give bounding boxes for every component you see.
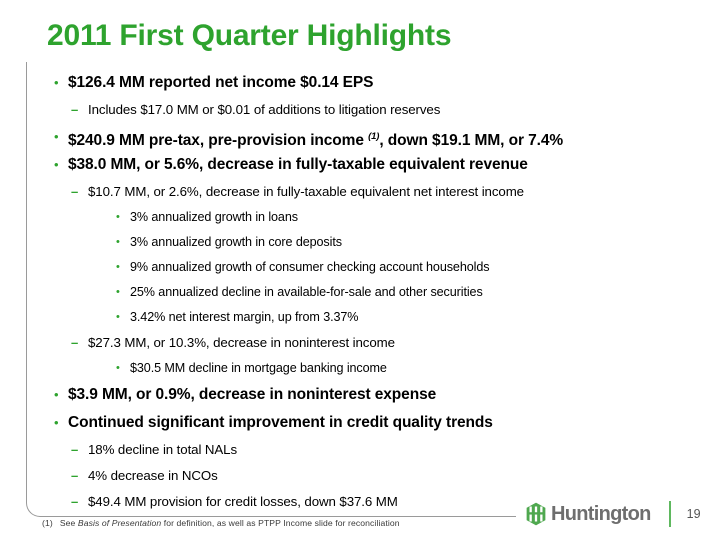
bullet-text: $3.9 MM, or 0.9%, decrease in noninteres… [68, 384, 436, 405]
bullet-marker-icon: • [116, 208, 130, 226]
bullet-item-level-3: •3% annualized growth in core deposits [0, 233, 720, 258]
bullet-marker-icon: • [116, 233, 130, 251]
slide-canvas: 2011 First Quarter Highlights •$126.4 MM… [0, 0, 720, 540]
page-title: 2011 First Quarter Highlights [47, 19, 451, 53]
bullet-marker-icon: – [71, 182, 88, 201]
bullet-item-level-1: •$126.4 MM reported net income $0.14 EPS [0, 72, 720, 100]
bullet-text: 9% annualized growth of consumer checkin… [130, 258, 489, 276]
bullet-text: Continued significant improvement in cre… [68, 412, 493, 433]
bullet-item-level-1: •$240.9 MM pre-tax, pre-provision income… [0, 126, 720, 154]
bullet-text: Includes $17.0 MM or $0.01 of additions … [88, 100, 440, 119]
bullet-text: $27.3 MM, or 10.3%, decrease in noninter… [88, 333, 395, 352]
huntington-hexagon-icon [525, 502, 547, 526]
bullet-text: 4% decrease in NCOs [88, 466, 218, 485]
bullet-marker-icon: • [54, 154, 68, 175]
bullet-text: 18% decline in total NALs [88, 440, 237, 459]
bullet-item-level-2: –4% decrease in NCOs [0, 466, 720, 492]
brand-footer: Huntington 19 [525, 500, 701, 528]
brand-separator [669, 501, 671, 527]
bullet-marker-icon: • [116, 308, 130, 326]
bullet-item-level-3: •$30.5 MM decline in mortgage banking in… [0, 359, 720, 384]
bullet-marker-icon: • [54, 126, 68, 147]
page-number: 19 [687, 502, 701, 526]
bullet-text-part1: $240.9 MM pre-tax, pre-provision income [68, 132, 368, 149]
bullet-text: $49.4 MM provision for credit losses, do… [88, 492, 398, 511]
bullet-item-level-3: •3.42% net interest margin, up from 3.37… [0, 308, 720, 333]
bullet-item-level-2: –18% decline in total NALs [0, 440, 720, 466]
bullet-item-level-2: –$10.7 MM, or 2.6%, decrease in fully-ta… [0, 182, 720, 208]
bullet-item-level-2: –$27.3 MM, or 10.3%, decrease in noninte… [0, 333, 720, 359]
footnote-marker: (1) [42, 518, 53, 528]
footnote-reference: (1) [368, 131, 379, 142]
bullet-marker-icon: – [71, 492, 88, 511]
bullet-text: 3% annualized growth in core deposits [130, 233, 342, 251]
bullet-marker-icon: – [71, 440, 88, 459]
bullet-item-level-3: •3% annualized growth in loans [0, 208, 720, 233]
bullet-marker-icon: • [54, 72, 68, 93]
bullet-marker-icon: • [116, 283, 130, 301]
huntington-wordmark: Huntington [551, 502, 651, 526]
bullet-marker-icon: – [71, 100, 88, 119]
bullet-text: $10.7 MM, or 2.6%, decrease in fully-tax… [88, 182, 524, 201]
bullet-text: $240.9 MM pre-tax, pre-provision income … [68, 126, 563, 151]
bullet-text: 3.42% net interest margin, up from 3.37% [130, 308, 358, 326]
bullet-marker-icon: • [116, 258, 130, 276]
footnote-text-part1: See [60, 518, 78, 528]
bullet-item-level-1: •$38.0 MM, or 5.6%, decrease in fully-ta… [0, 154, 720, 182]
bullet-marker-icon: – [71, 333, 88, 352]
footnote-italic-term: Basis of Presentation [78, 518, 161, 528]
bullet-marker-icon: – [71, 466, 88, 485]
bullet-item-level-3: •9% annualized growth of consumer checki… [0, 258, 720, 283]
bullet-text: $126.4 MM reported net income $0.14 EPS [68, 72, 373, 93]
bullet-marker-icon: • [54, 384, 68, 405]
bullet-text: $38.0 MM, or 5.6%, decrease in fully-tax… [68, 154, 528, 175]
bullet-list: •$126.4 MM reported net income $0.14 EPS… [0, 72, 720, 518]
bullet-text: 25% annualized decline in available-for-… [130, 283, 483, 301]
bullet-text: 3% annualized growth in loans [130, 208, 298, 226]
bullet-text: $30.5 MM decline in mortgage banking inc… [130, 359, 387, 377]
bullet-item-level-1: •Continued significant improvement in cr… [0, 412, 720, 440]
footnote-text-part2: for definition, as well as PTPP Income s… [161, 518, 399, 528]
bullet-marker-icon: • [54, 412, 68, 433]
footnote: (1)See Basis of Presentation for definit… [42, 518, 400, 528]
bullet-item-level-3: •25% annualized decline in available-for… [0, 283, 720, 308]
bullet-text-part2: , down $19.1 MM, or 7.4% [379, 132, 563, 149]
bullet-marker-icon: • [116, 359, 130, 377]
bullet-item-level-1: •$3.9 MM, or 0.9%, decrease in nonintere… [0, 384, 720, 412]
bullet-item-level-2: –Includes $17.0 MM or $0.01 of additions… [0, 100, 720, 126]
